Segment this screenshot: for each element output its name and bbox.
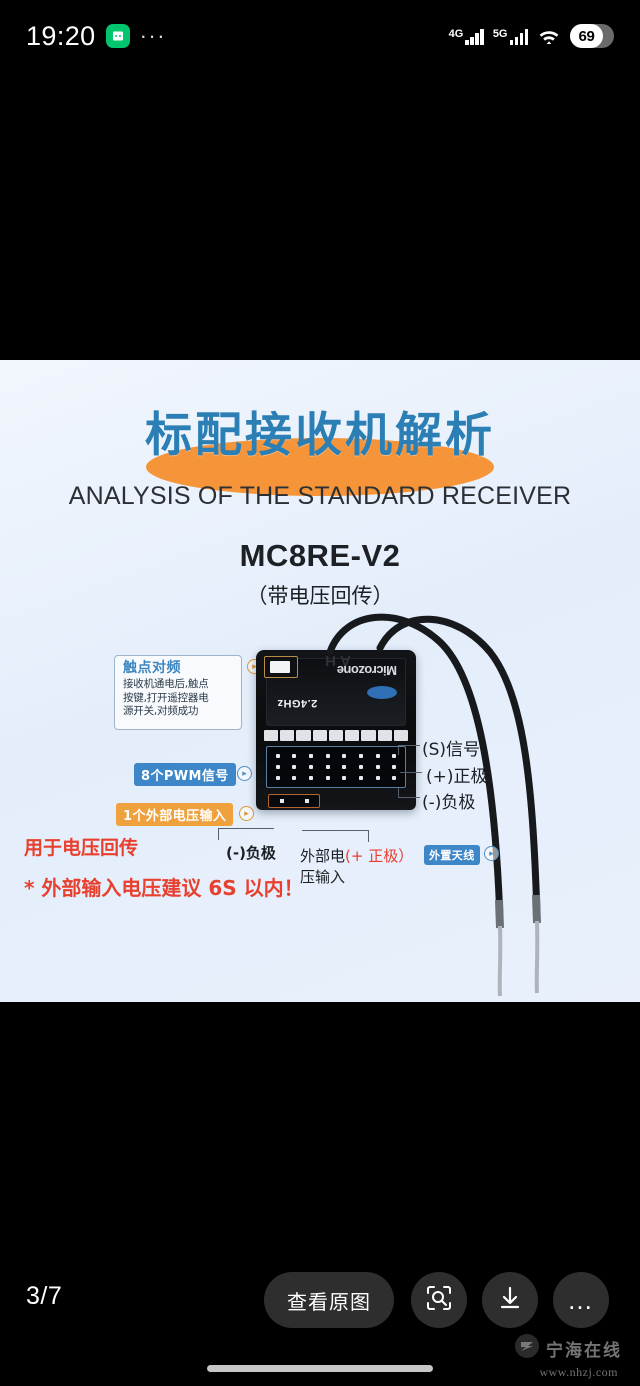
leader-line-positive <box>400 772 422 773</box>
mi-app-icon <box>106 24 130 48</box>
badge-external-antenna: 外置天线 <box>424 845 480 865</box>
watermark-site-name: 宁海在线 <box>546 1336 622 1361</box>
product-model-name: MC8RE-V2 <box>0 538 640 574</box>
label-negative-left: (-)负极 <box>226 842 276 863</box>
status-bar-right: 4G 5G 69 <box>449 24 614 48</box>
label-negative: (-)负极 <box>422 788 475 813</box>
device-logo-oval <box>367 686 397 699</box>
view-original-button[interactable]: 查看原图 <box>264 1272 394 1328</box>
battery-percent-label: 69 <box>570 28 603 45</box>
leader-line-negative <box>398 797 420 798</box>
network-type-label-5g: 5G <box>493 28 508 40</box>
network-type-label-4g: 4G <box>449 28 464 40</box>
photo-title-chinese: 标配接收机解析 <box>0 396 640 465</box>
label-external-voltage-line-2: 压输入 <box>300 866 345 887</box>
pairing-callout-title: 触点对频 <box>123 661 235 676</box>
photo-title-english: ANALYSIS OF THE STANDARD RECEIVER <box>0 482 640 511</box>
device-top-mark: AH <box>321 652 351 669</box>
viewer-bottom-bar: 3/7 查看原图 … 宁海在线 w <box>0 1256 640 1386</box>
signal-4g: 4G <box>449 28 484 45</box>
label-positive: (+)正极 <box>426 762 488 787</box>
leader-line-signal-tick <box>398 745 399 755</box>
device-external-voltage-port <box>268 794 320 808</box>
label-external-voltage-prefix: 外部电 <box>300 847 345 865</box>
wifi-icon <box>537 27 561 46</box>
warning-text: * 外部输入电压建议 6S 以内！ <box>24 872 304 901</box>
receiver-device-photo: Microzone 2.4GHz AH <box>256 650 416 810</box>
page-indicator: 3/7 <box>26 1282 62 1311</box>
label-external-voltage-positive: (+ 正极） <box>345 847 413 865</box>
leader-line-negative-tick <box>398 788 399 798</box>
leader-line-negative-left <box>218 828 274 829</box>
signal-5g: 5G <box>493 28 528 45</box>
view-original-label: 查看原图 <box>287 1286 371 1315</box>
watermark-site-url: www.nhzj.com <box>539 1365 618 1380</box>
lens-scan-icon <box>424 1283 454 1318</box>
device-pin-strip <box>264 730 408 741</box>
status-bar: 19:20 ··· 4G 5G 69 <box>0 0 640 72</box>
pairing-callout-box: 触点对频 接收机通电后,触点 按键,打开遥控器电 源开关,对频成功 <box>114 655 242 730</box>
label-signal: (S)信号 <box>422 735 480 760</box>
download-icon <box>496 1284 524 1317</box>
photo-title-block: 标配接收机解析 <box>0 396 640 465</box>
pointer-marker-pwm-icon: ▸ <box>237 766 252 781</box>
signal-bars-icon <box>510 28 529 45</box>
home-indicator[interactable] <box>207 1365 433 1372</box>
device-frequency-text: 2.4GHz <box>277 697 317 709</box>
more-horizontal-icon: … <box>567 1295 595 1305</box>
leader-line-negative-left-tick <box>218 828 219 840</box>
status-bar-clock: 19:20 <box>26 21 96 52</box>
more-options-button[interactable]: … <box>553 1272 609 1328</box>
pointer-marker-antenna-icon: ▸ <box>484 846 499 861</box>
status-bar-overflow-dots: ··· <box>140 25 166 47</box>
device-pin-header-grid <box>266 746 406 788</box>
signal-bars-icon <box>465 28 484 45</box>
badge-pwm-signals: 8个PWM信号 <box>134 763 236 786</box>
pairing-callout-line-3: 源开关,对频成功 <box>123 705 235 718</box>
leader-line-external-voltage-tick <box>368 830 369 842</box>
lens-scan-button[interactable] <box>411 1272 467 1328</box>
battery-indicator: 69 <box>570 24 614 48</box>
label-external-voltage-line-1: 外部电(+ 正极） <box>300 845 413 866</box>
status-bar-left: 19:20 ··· <box>26 21 166 52</box>
device-bind-button <box>264 656 298 678</box>
watermark-logo-icon <box>514 1333 540 1364</box>
pointer-marker-voltage-icon: ▸ <box>239 806 254 821</box>
pairing-callout-line-1: 接收机通电后,触点 <box>123 678 235 691</box>
site-watermark: 宁海在线 www.nhzj.com <box>514 1333 622 1364</box>
download-button[interactable] <box>482 1272 538 1328</box>
badge-external-voltage-input: 1个外部电压输入 <box>116 803 233 826</box>
leader-line-signal <box>398 745 420 746</box>
leader-line-external-voltage <box>302 830 368 831</box>
image-viewer-photo[interactable]: 标配接收机解析 ANALYSIS OF THE STANDARD RECEIVE… <box>0 360 640 1002</box>
pairing-callout-line-2: 按键,打开遥控器电 <box>123 692 235 705</box>
label-voltage-feedback: 用于电压回传 <box>24 833 138 860</box>
product-model-subtitle: （带电压回传） <box>0 580 640 610</box>
